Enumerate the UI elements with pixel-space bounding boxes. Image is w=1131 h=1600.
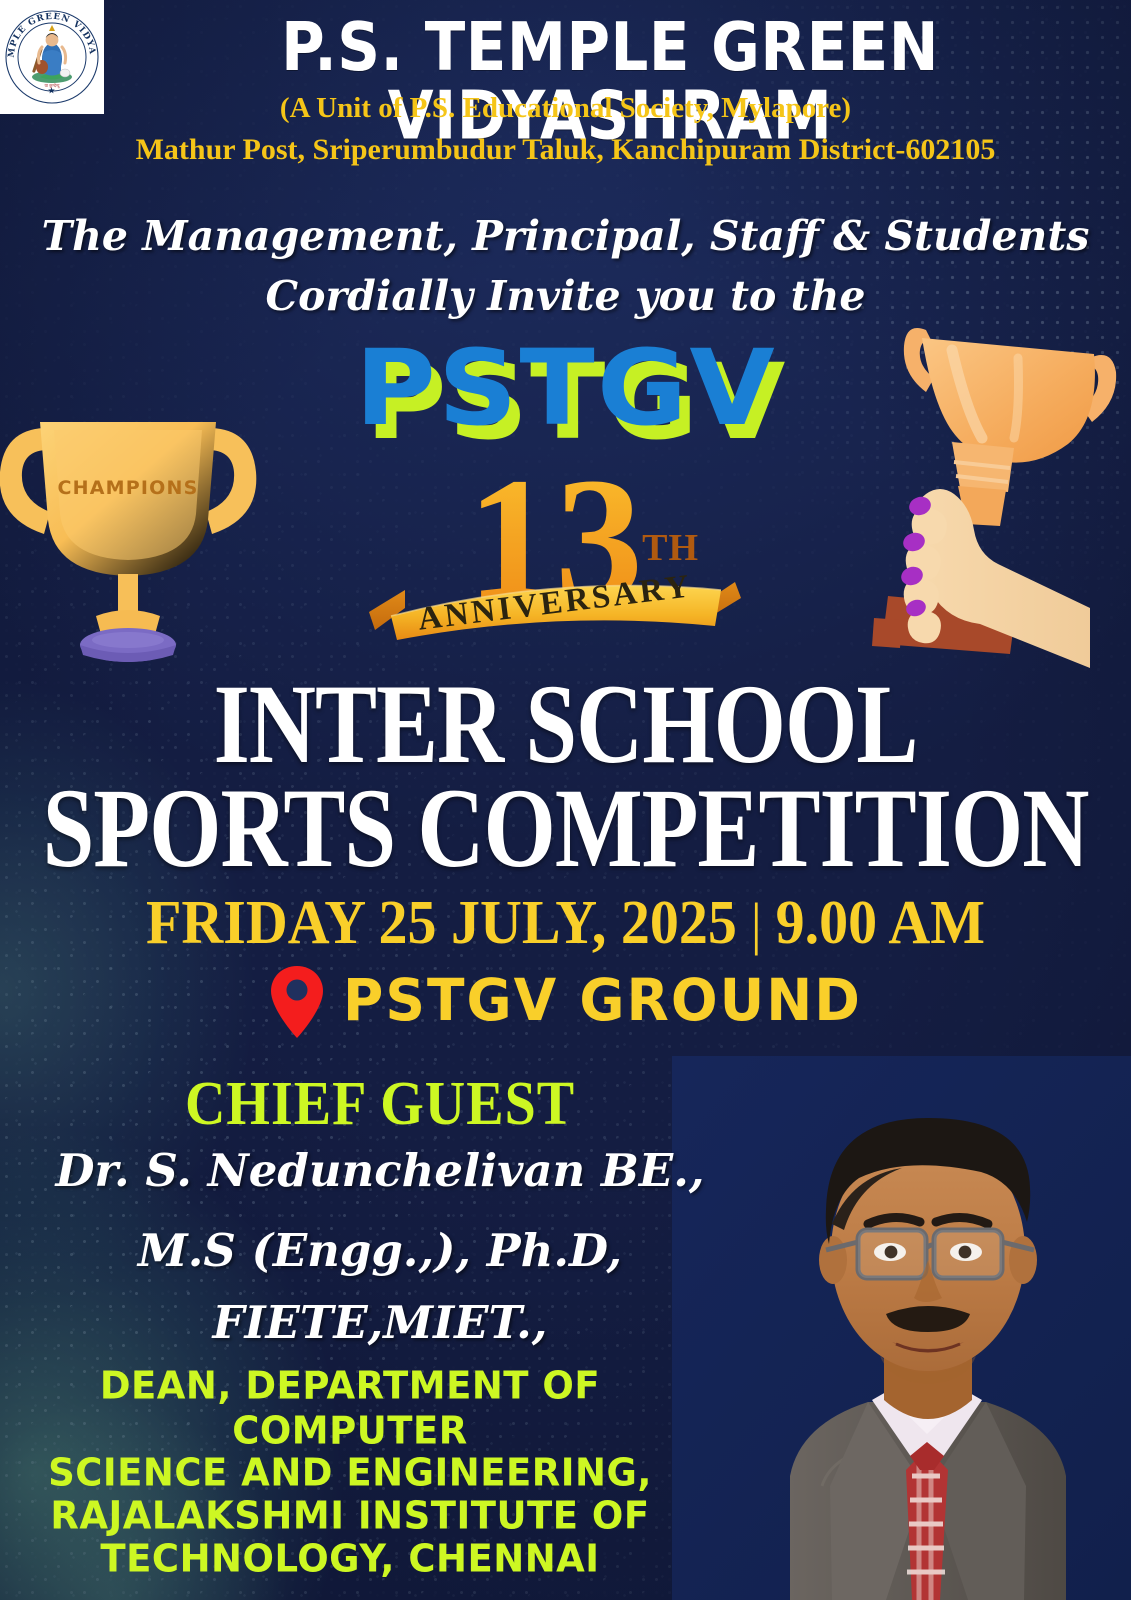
location-pin-icon [269, 964, 325, 1040]
event-title-line-1: INTER SCHOOL [0, 668, 1131, 781]
event-venue-name: PSTGV GROUND [343, 966, 862, 1034]
event-venue-row: PSTGV GROUND [0, 960, 1131, 1040]
event-time: 9.00 AM [776, 887, 985, 957]
designation-line-2: SCIENCE AND ENGINEERING, [0, 1451, 700, 1496]
designation-line-3: RAJALAKSHMI INSTITUTE OF [0, 1494, 700, 1539]
event-date: FRIDAY 25 JULY, 2025 [146, 887, 737, 957]
pstgv-wordmark-front: PSTGV [355, 327, 777, 449]
school-address: Mathur Post, Sriperumbudur Taluk, Kanchi… [0, 133, 1131, 167]
datetime-separator: | [737, 891, 776, 956]
event-datetime: FRIDAY 25 JULY, 2025|9.00 AM [0, 886, 1131, 958]
invite-line-1: The Management, Principal, Staff & Stude… [0, 212, 1131, 260]
hand-holding-trophy-icon [840, 296, 1131, 668]
designation-line-1: DEAN, DEPARTMENT OF COMPUTER [0, 1364, 700, 1453]
chief-guest-heading: CHIEF GUEST [0, 1068, 760, 1140]
school-name-title: P.S. TEMPLE GREEN VIDYASHRAM [109, 14, 1111, 151]
trophy-cup-icon: CHAMPIONS [0, 402, 264, 670]
event-invitation-poster: P.S. TEMPLE GREEN VIDYASHRAM ★ य [0, 0, 1131, 1600]
trophy-champions-label: CHAMPIONS [58, 477, 199, 499]
chief-guest-name-line-2: M.S (Engg.,), Ph.D, [0, 1228, 760, 1273]
pstgv-wordmark: PSTGV PSTGV [355, 336, 777, 440]
chief-guest-designation: DEAN, DEPARTMENT OF COMPUTER SCIENCE AND… [0, 1366, 700, 1581]
event-title-line-2: SPORTS COMPETITION [0, 772, 1131, 885]
designation-line-4: TECHNOLOGY, CHENNAI [0, 1537, 700, 1582]
anniversary-badge: 13 TH AN [385, 452, 725, 662]
anniversary-ribbon: ANNIVERSARY [365, 564, 745, 642]
chief-guest-name-line-1: Dr. S. Nedunchelivan BE., [0, 1148, 760, 1193]
chief-guest-name-line-3: FIETE,MIET., [0, 1300, 760, 1345]
school-unit-line: (A Unit of P.S. Educational Society, Myl… [0, 92, 1131, 125]
